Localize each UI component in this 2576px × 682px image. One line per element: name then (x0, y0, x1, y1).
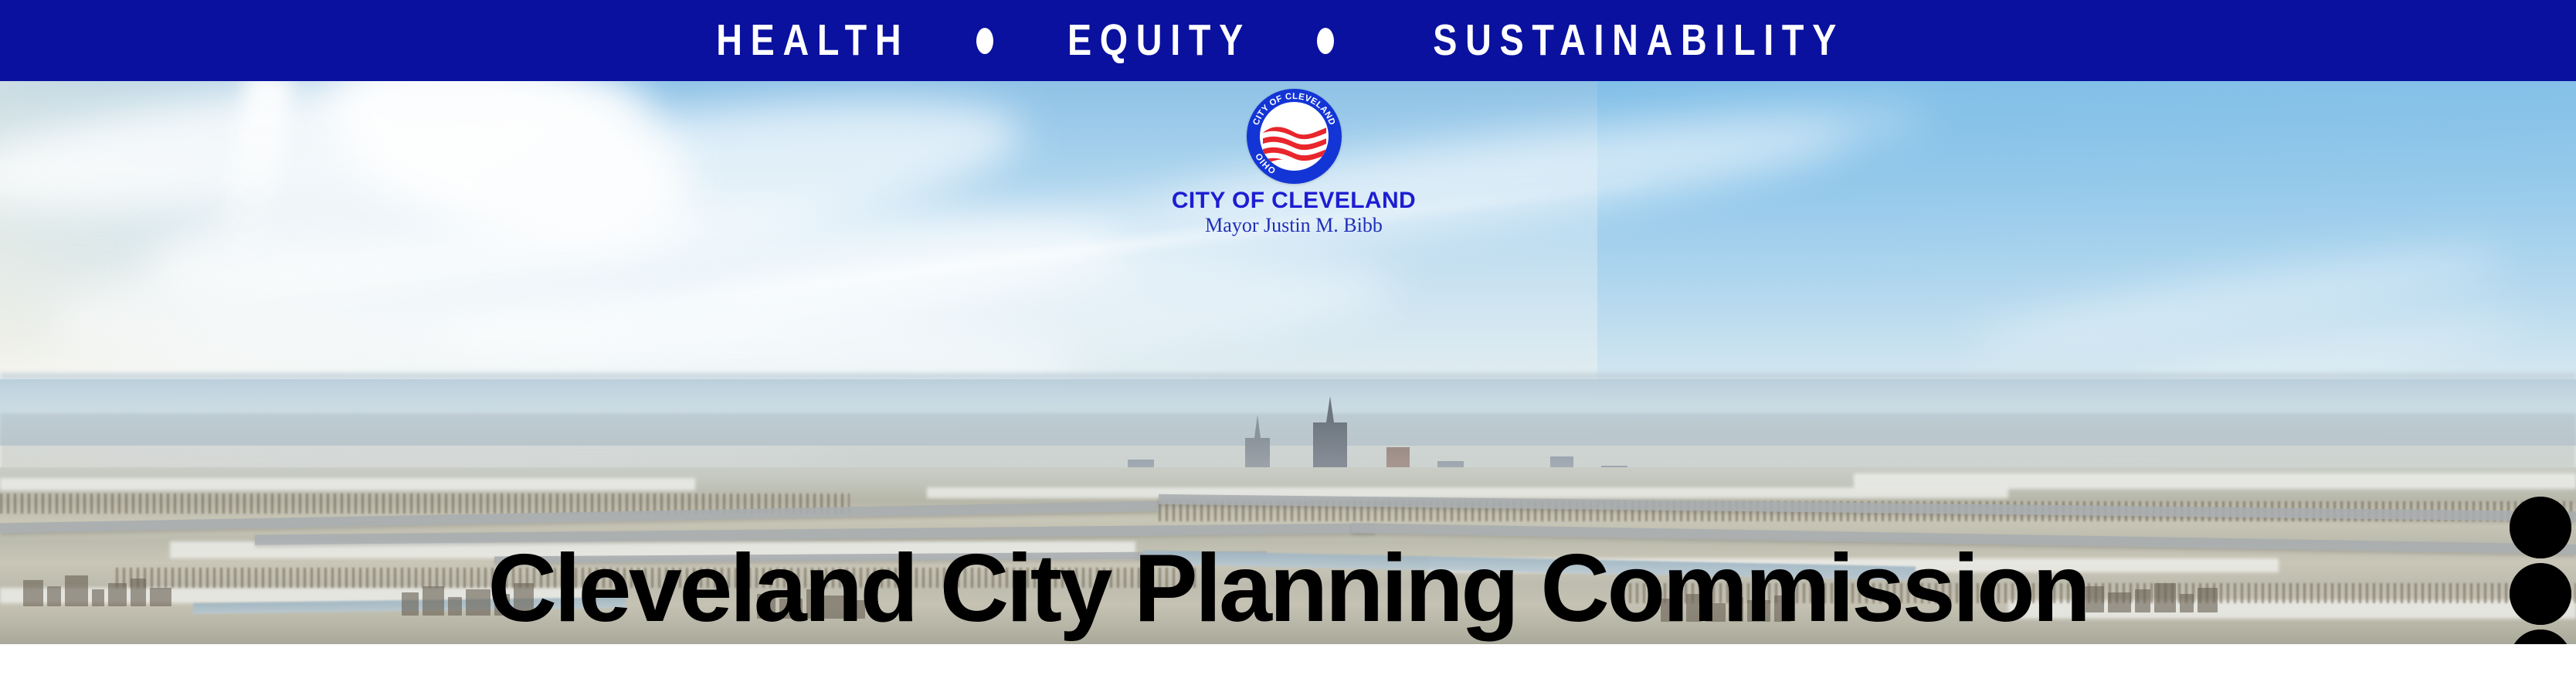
tagline-banner: HEALTH EQUITY SUSTAINABILITY (0, 0, 2576, 81)
tagline-group: HEALTH EQUITY SUSTAINABILITY (686, 19, 1891, 63)
social-links (2510, 497, 2571, 644)
city-of-cleveland-seal-icon: CITY OF CLEVELAND OHIO (1247, 89, 1342, 184)
instagram-icon[interactable] (2510, 563, 2571, 625)
bottom-white-strip (0, 644, 2576, 682)
page-title: Cleveland City Planning Commission (0, 541, 2576, 636)
city-branding-lockup: CITY OF CLEVELAND OHIO (1139, 89, 1448, 236)
seal-flag-icon (1260, 122, 1329, 171)
hero-photo: CITY OF CLEVELAND OHIO (0, 81, 2576, 644)
seal-inner-disc (1260, 102, 1329, 171)
mayor-name: Mayor Justin M. Bibb (1205, 215, 1383, 236)
youtube-icon[interactable] (2510, 497, 2571, 558)
bullet-dot-icon (976, 28, 993, 54)
bullet-dot-icon (1317, 28, 1334, 54)
tagline-word-sustainability: SUSTAINABILITY (1424, 19, 1844, 63)
page-root: HEALTH EQUITY SUSTAINABILITY (0, 0, 2576, 682)
tagline-word-equity: EQUITY (1059, 19, 1251, 63)
facebook-icon[interactable] (2510, 629, 2571, 644)
org-name: CITY OF CLEVELAND (1172, 188, 1416, 212)
seal-stars-icon (1260, 103, 1329, 124)
tagline-word-health: HEALTH (708, 19, 909, 63)
